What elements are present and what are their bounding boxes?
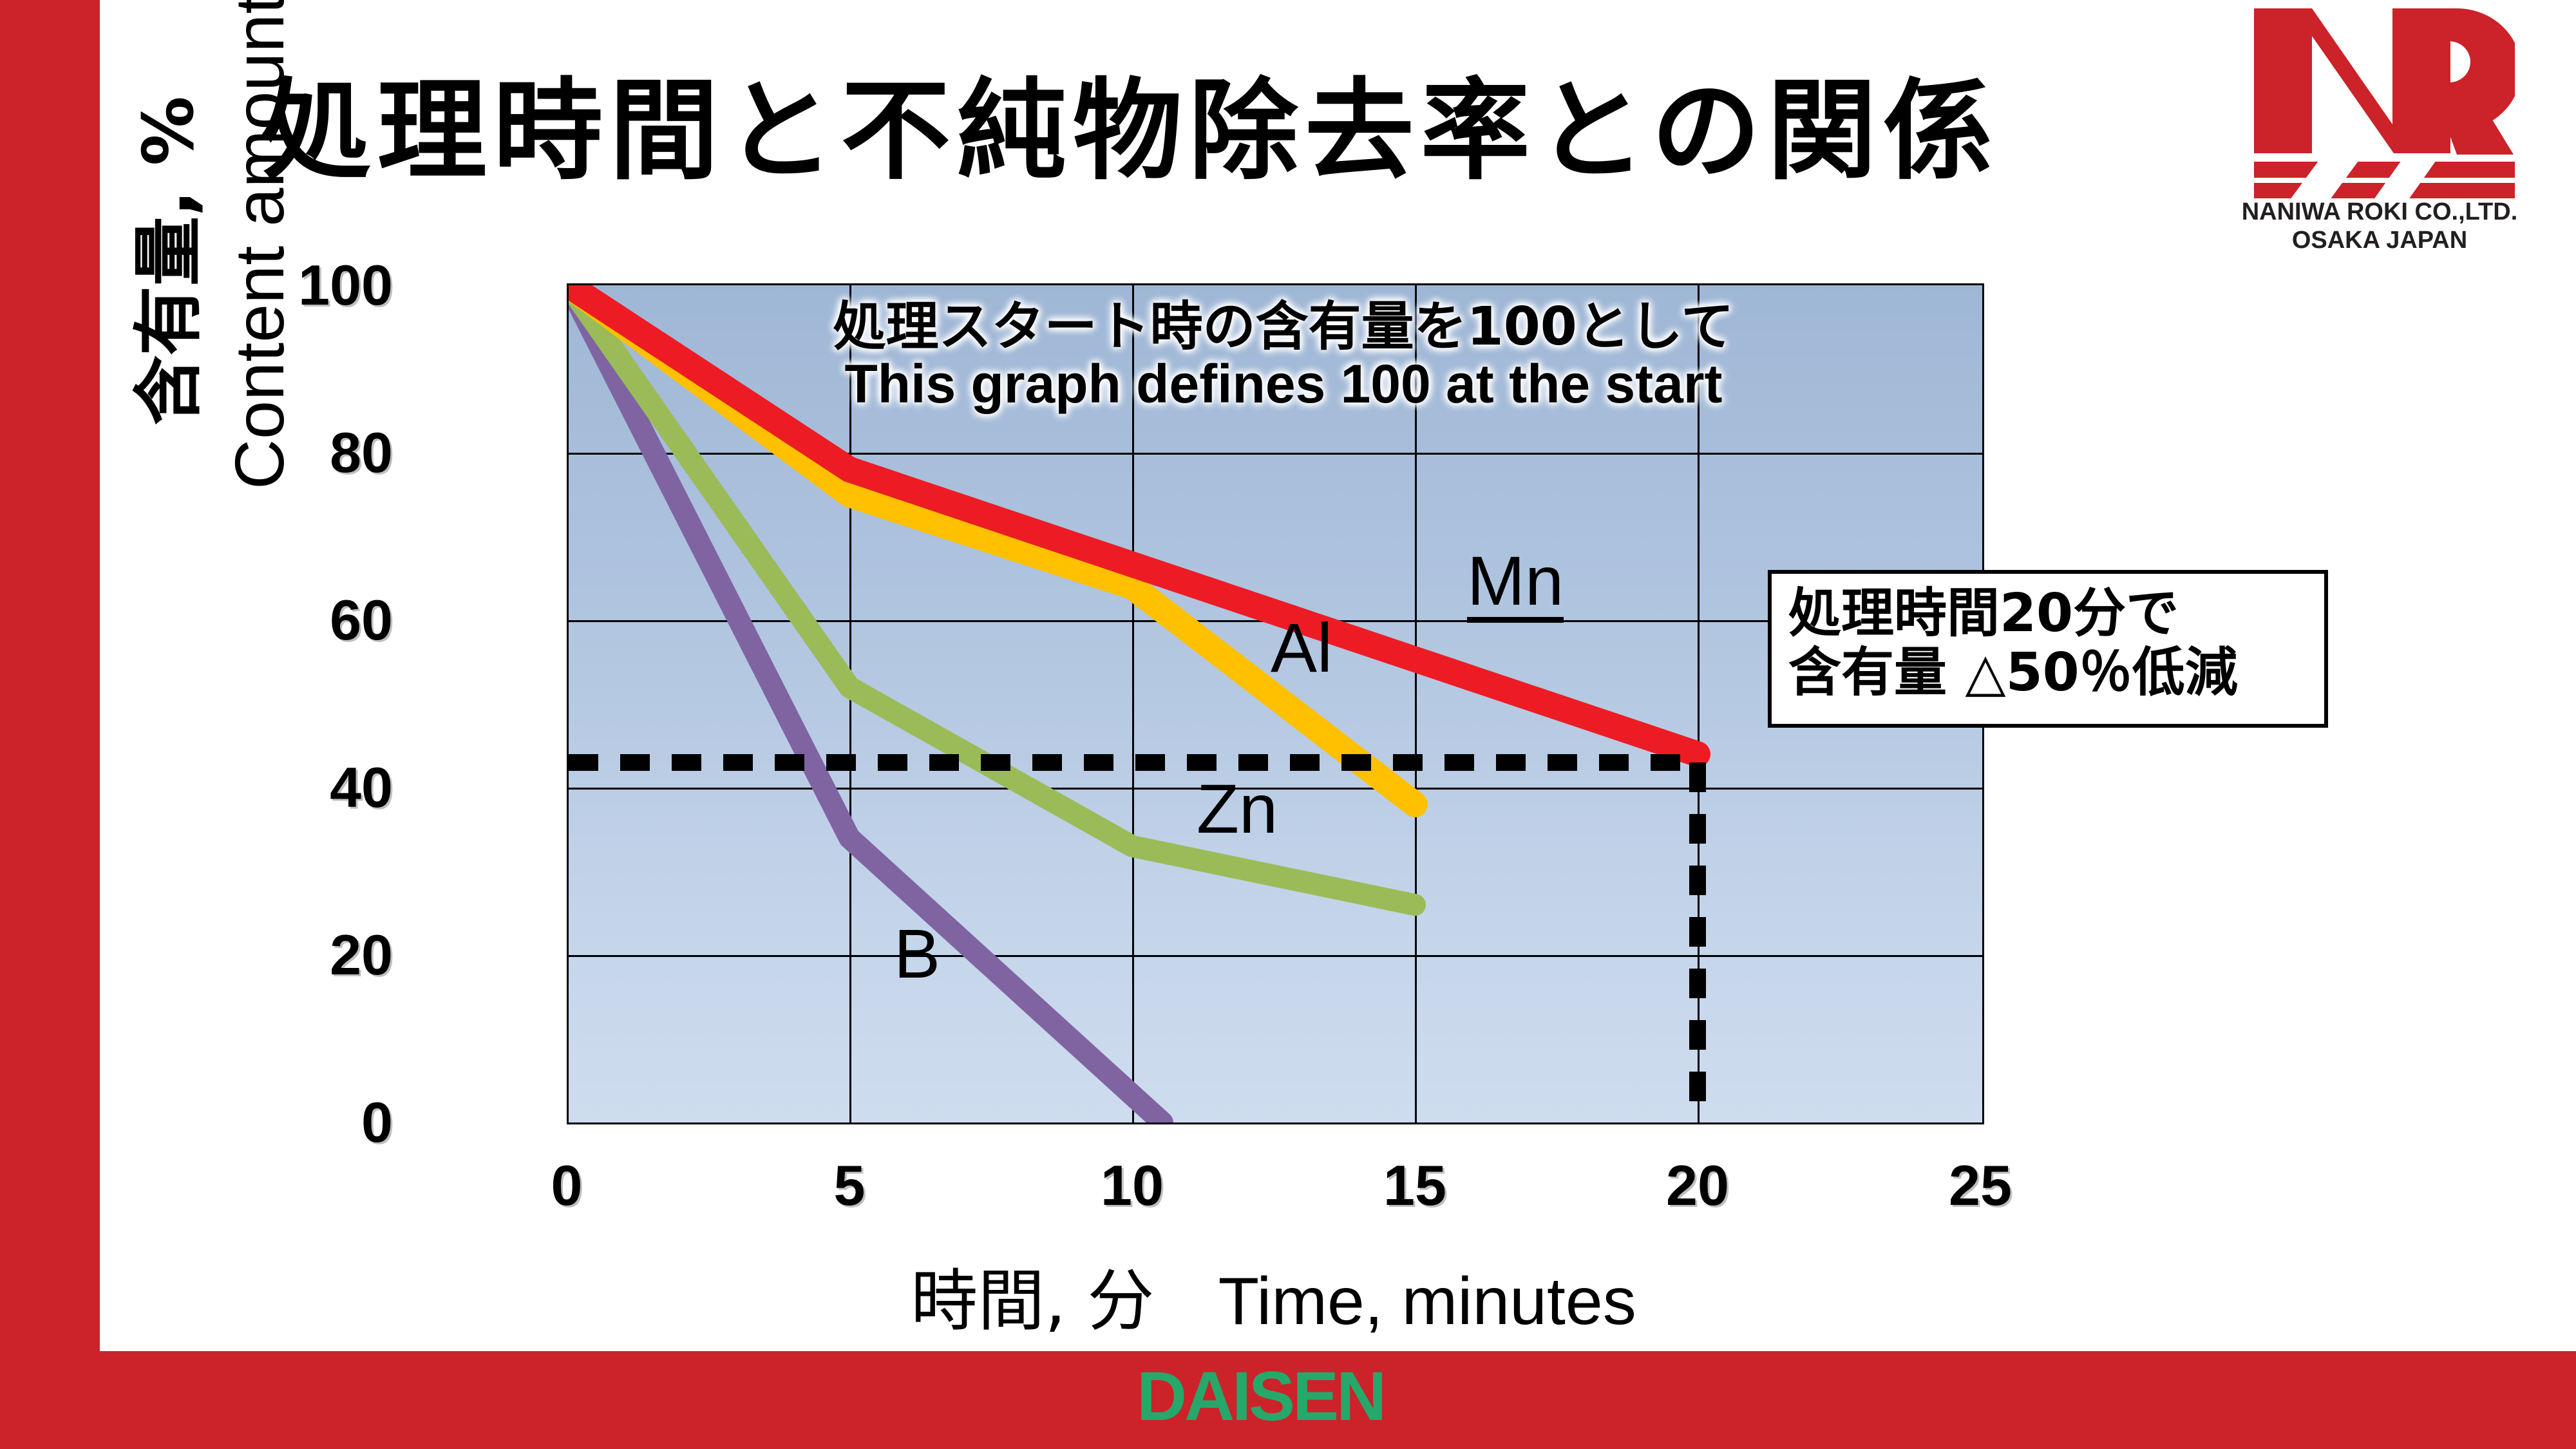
chart-container: 含有量, % Content amount, % 100 80 60 40 20… xyxy=(100,213,2289,1346)
x-axis-label-en: Time, minutes xyxy=(1218,1264,1636,1339)
series-label-al: Al xyxy=(1271,607,1332,688)
series-label-b: B xyxy=(894,913,940,994)
series-label-zn: Zn xyxy=(1197,768,1278,849)
y-tick-100: 100 xyxy=(200,252,393,318)
x-axis-label: 時間, 分 Time, minutes xyxy=(567,1246,1980,1343)
x-tick-15: 15 xyxy=(1338,1153,1492,1218)
y-tick-20: 20 xyxy=(200,922,393,988)
x-tick-5: 5 xyxy=(772,1153,927,1218)
y-tick-80: 80 xyxy=(200,420,393,486)
x-tick-25: 25 xyxy=(1903,1153,2058,1218)
x-axis-label-jp: 時間, 分 xyxy=(911,1262,1154,1340)
daisen-logo-text: DAISEN xyxy=(1137,1357,1384,1435)
callout-line-1: 処理時間20分で xyxy=(1788,584,2310,643)
left-accent-bar xyxy=(0,0,100,1449)
callout-box: 処理時間20分で 含有量 △50％低減 xyxy=(1768,570,2328,728)
series-label-mn: Mn xyxy=(1467,546,1564,623)
page-title: 処理時間と不純物除去率との関係 xyxy=(100,74,2161,189)
y-axis-label-en: Content amount, % xyxy=(219,0,299,489)
slide-root: 処理時間と不純物除去率との関係 NANIWA ROKI CO.,LTD. OSA… xyxy=(0,0,2576,1449)
x-tick-20: 20 xyxy=(1620,1153,1775,1218)
callout-line-2: 含有量 △50％低減 xyxy=(1788,643,2310,703)
x-tick-10: 10 xyxy=(1055,1153,1209,1218)
nr-mark-icon xyxy=(2244,5,2515,198)
x-tick-0: 0 xyxy=(489,1153,644,1218)
daisen-logo: DAISEN xyxy=(1137,1361,1384,1431)
y-tick-60: 60 xyxy=(200,587,393,653)
y-tick-40: 40 xyxy=(200,755,393,820)
y-axis-label-jp: 含有量, % xyxy=(113,96,213,425)
y-tick-0: 0 xyxy=(200,1090,393,1155)
